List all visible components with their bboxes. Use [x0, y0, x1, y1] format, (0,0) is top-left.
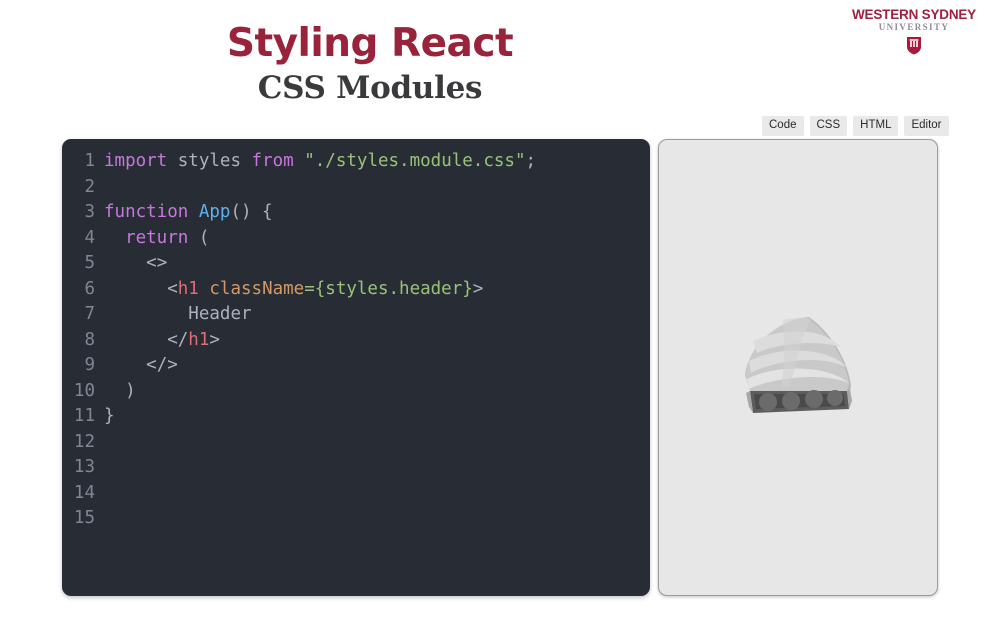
code-token-plain: > — [473, 279, 484, 299]
line-number: 12 — [62, 430, 104, 456]
code-line: 9 </> — [62, 353, 650, 379]
code-token-attr: className — [209, 279, 304, 299]
line-number: 6 — [62, 277, 104, 303]
line-content[interactable]: import styles from "./styles.module.css"… — [104, 149, 650, 175]
code-line: 13 — [62, 455, 650, 481]
code-token-plain — [199, 279, 210, 299]
code-token-plain: < — [104, 279, 178, 299]
line-content[interactable]: </> — [104, 353, 650, 379]
code-token-tag: h1 — [188, 330, 209, 350]
code-token-plain: > — [209, 330, 220, 350]
logo-text-primary: WESTERN SYDNEY — [844, 8, 984, 22]
code-line: 5 <> — [62, 251, 650, 277]
line-number: 2 — [62, 175, 104, 201]
code-line: 8 </h1> — [62, 328, 650, 354]
line-number: 11 — [62, 404, 104, 430]
code-token-plain: </> — [104, 355, 178, 375]
line-number: 15 — [62, 506, 104, 532]
tab-html[interactable]: HTML — [853, 116, 898, 136]
code-line: 15 — [62, 506, 650, 532]
line-number: 13 — [62, 455, 104, 481]
code-line: 7 Header — [62, 302, 650, 328]
code-line: 10 ) — [62, 379, 650, 405]
shield-icon — [906, 36, 922, 55]
code-token-plain — [241, 151, 252, 171]
code-token-plain — [104, 228, 125, 248]
code-line: 14 — [62, 481, 650, 507]
line-number: 8 — [62, 328, 104, 354]
code-token-plain: } — [104, 406, 115, 426]
code-token-string: ={styles.header} — [304, 279, 473, 299]
view-tabbar: CodeCSSHTMLEditor — [762, 116, 949, 136]
code-token-plain: ) — [104, 381, 136, 401]
code-token-plain — [188, 202, 199, 222]
code-token-plain: ; — [526, 151, 537, 171]
code-token-plain: Header — [104, 304, 252, 324]
line-number: 7 — [62, 302, 104, 328]
code-token-function: App — [199, 202, 231, 222]
code-line: 11} — [62, 404, 650, 430]
code-token-plain: <> — [104, 253, 167, 273]
pie-slice-icon — [723, 303, 873, 433]
code-token-plain: styles — [178, 151, 241, 171]
line-number: 5 — [62, 251, 104, 277]
code-line: 6 <h1 className={styles.header}> — [62, 277, 650, 303]
code-token-plain — [294, 151, 305, 171]
title-block: Styling React CSS Modules — [0, 24, 740, 105]
line-number: 3 — [62, 200, 104, 226]
logo-shield-wrapper — [844, 36, 984, 55]
code-token-plain — [167, 151, 178, 171]
code-line: 4 return ( — [62, 226, 650, 252]
code-token-keyword: import — [104, 151, 167, 171]
code-token-plain: ( — [188, 228, 209, 248]
line-number: 14 — [62, 481, 104, 507]
line-content[interactable]: <> — [104, 251, 650, 277]
tab-editor[interactable]: Editor — [904, 116, 948, 136]
line-number: 1 — [62, 149, 104, 175]
code-token-plain: () { — [230, 202, 272, 222]
code-line: 3function App() { — [62, 200, 650, 226]
page-title: Styling React — [0, 24, 740, 65]
logo-text-secondary: UNIVERSITY — [844, 23, 984, 32]
line-content[interactable]: </h1> — [104, 328, 650, 354]
code-token-tag: h1 — [178, 279, 199, 299]
code-editor-panel[interactable]: 1import styles from "./styles.module.css… — [62, 139, 650, 596]
line-content[interactable]: Header — [104, 302, 650, 328]
code-line: 1import styles from "./styles.module.css… — [62, 149, 650, 175]
code-token-keyword: return — [125, 228, 188, 248]
code-editor-content[interactable]: 1import styles from "./styles.module.css… — [62, 139, 650, 532]
line-number: 4 — [62, 226, 104, 252]
code-token-plain: </ — [104, 330, 188, 350]
line-content[interactable]: function App() { — [104, 200, 650, 226]
preview-panel[interactable] — [658, 139, 938, 596]
code-line: 2 — [62, 175, 650, 201]
wsu-logo: WESTERN SYDNEY UNIVERSITY — [844, 8, 984, 55]
line-content[interactable]: } — [104, 404, 650, 430]
tab-css[interactable]: CSS — [810, 116, 848, 136]
line-content[interactable]: ) — [104, 379, 650, 405]
code-token-keyword: function — [104, 202, 188, 222]
page-subtitle: CSS Modules — [0, 71, 740, 105]
line-content[interactable]: <h1 className={styles.header}> — [104, 277, 650, 303]
code-token-keyword: from — [252, 151, 294, 171]
tab-code[interactable]: Code — [762, 116, 804, 136]
line-number: 9 — [62, 353, 104, 379]
code-line: 12 — [62, 430, 650, 456]
line-content[interactable]: return ( — [104, 226, 650, 252]
line-number: 10 — [62, 379, 104, 405]
code-token-string: "./styles.module.css" — [304, 151, 525, 171]
